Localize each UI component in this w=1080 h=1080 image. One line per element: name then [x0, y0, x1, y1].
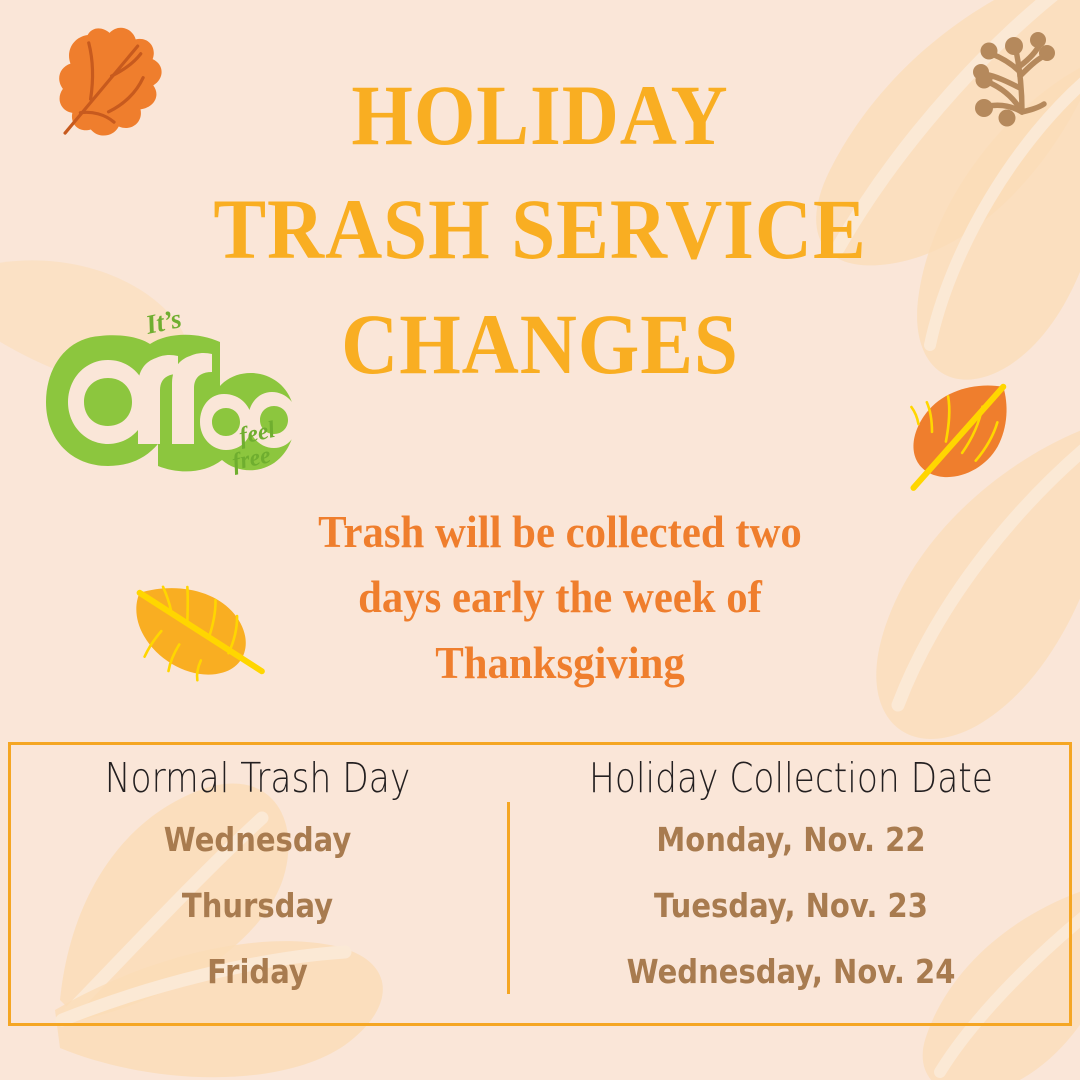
table-row: Friday: [38, 952, 477, 1018]
table-row: Tuesday, Nov. 23: [544, 886, 1039, 952]
schedule-column-holiday: Holiday Collection Date Monday, Nov. 22 …: [510, 742, 1072, 1026]
table-row: Wednesday, Nov. 24: [544, 952, 1039, 1018]
carrboro-logo: It’s feel free: [38, 298, 318, 503]
column-rows-holiday: Monday, Nov. 22 Tuesday, Nov. 23 Wednesd…: [510, 820, 1072, 1018]
column-rows-normal: Wednesday Thursday Friday: [8, 820, 507, 1018]
title-line-1: HOLIDAY: [43, 58, 1037, 172]
subtitle-line-2: days early the week of: [256, 565, 864, 630]
logo-top-text: It’s: [142, 303, 184, 340]
table-row: Thursday: [38, 886, 477, 952]
subtitle-line-3: Thanksgiving: [256, 631, 864, 696]
poster-subtitle: Trash will be collected two days early t…: [256, 500, 864, 696]
subtitle-line-1: Trash will be collected two: [256, 500, 864, 565]
schedule-column-normal: Normal Trash Day Wednesday Thursday Frid…: [8, 742, 507, 1026]
table-row: Monday, Nov. 22: [544, 820, 1039, 886]
title-line-2: TRASH SERVICE: [43, 172, 1037, 286]
table-row: Wednesday: [38, 820, 477, 886]
column-header-normal-trash-day: Normal Trash Day: [48, 754, 467, 802]
column-header-holiday-collection-date: Holiday Collection Date: [555, 754, 1027, 802]
poster-canvas: HOLIDAY TRASH SERVICE CHANGES: [0, 0, 1080, 1080]
schedule-column-divider: [507, 802, 510, 994]
